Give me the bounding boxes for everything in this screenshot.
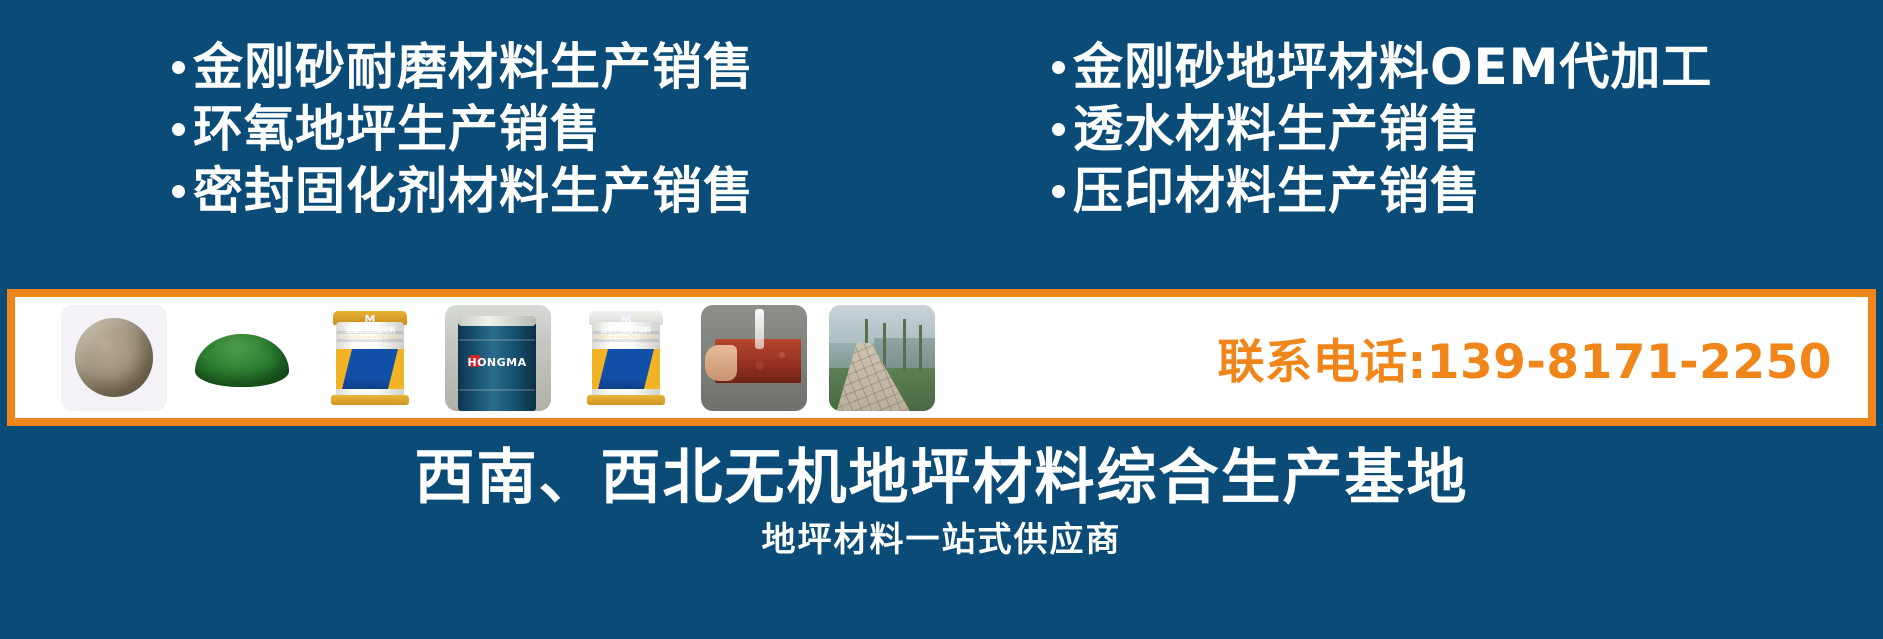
product-thumbnail-list: M 混凝土密封固化剂 Concrete seal curing agent HO… (15, 297, 935, 418)
water-stream-shape (755, 309, 764, 349)
bullet-dot-icon (1052, 185, 1065, 198)
bullet-dot-icon (172, 185, 185, 198)
drum-hoop (459, 339, 535, 341)
pail-en-label: Concrete seal curing agent (335, 336, 405, 340)
service-label: 密封固化剂材料生产销售 (193, 166, 754, 216)
service-label: 环氧地坪生产销售 (193, 104, 601, 154)
product-thumb-stamped-path (829, 305, 935, 411)
drum-hoop (459, 389, 535, 391)
product-thumb-concrete-sealer-pail: M 混凝土密封固化剂 Concrete seal curing agent (317, 305, 423, 411)
pail-base (587, 395, 665, 405)
product-thumb-epoxy-coating-pail: M 改性环氧地坪涂料 Modified epoxy floor coating (573, 305, 679, 411)
bullet-dot-icon (1052, 123, 1065, 136)
plastic-pail-shape: M 混凝土密封固化剂 Concrete seal curing agent (331, 311, 409, 405)
headline-text: 西南、西北无机地坪材料综合生产基地 (0, 447, 1883, 510)
drum-brand-label: HONGMA (445, 357, 549, 368)
pail-cn-label: 改性环氧地坪涂料 (590, 327, 662, 333)
subheadline-text: 地坪材料一站式供应商 (0, 523, 1883, 557)
service-item: 金刚砂地坪材料OEM代加工 (1052, 36, 1712, 98)
services-right-column: 金刚砂地坪材料OEM代加工 透水材料生产销售 压印材料生产销售 (1052, 36, 1712, 222)
pail-base (331, 395, 409, 405)
service-item: 透水材料生产销售 (1052, 98, 1712, 160)
service-item: 金刚砂耐磨材料生产销售 (172, 36, 754, 98)
pail-en-label: Modified epoxy floor coating (591, 336, 661, 340)
bullet-dot-icon (1052, 61, 1065, 74)
product-strip: M 混凝土密封固化剂 Concrete seal curing agent HO… (7, 289, 1876, 426)
services-section: 金刚砂耐磨材料生产销售 环氧地坪生产销售 密封固化剂材料生产销售 金刚砂地坪材料… (0, 0, 1883, 286)
footer-section: 西南、西北无机地坪材料综合生产基地 地坪材料一站式供应商 (0, 432, 1883, 639)
product-thumb-emery-powder (61, 305, 167, 411)
contact-phone[interactable]: 联系电话:139-8171-2250 (1217, 323, 1868, 392)
service-label: 金刚砂耐磨材料生产销售 (193, 42, 754, 92)
pail-label (336, 349, 404, 389)
service-item: 环氧地坪生产销售 (172, 98, 754, 160)
service-item: 密封固化剂材料生产销售 (172, 160, 754, 222)
product-thumb-green-powder (189, 305, 295, 411)
service-label: 金刚砂地坪材料OEM代加工 (1073, 42, 1712, 92)
pail-label (592, 349, 660, 389)
service-label: 压印材料生产销售 (1073, 166, 1481, 216)
services-left-column: 金刚砂耐磨材料生产销售 环氧地坪生产销售 密封固化剂材料生产销售 (172, 36, 754, 222)
plastic-pail-shape: M 改性环氧地坪涂料 Modified epoxy floor coating (587, 311, 665, 405)
product-thumb-hongma-drum: HONGMA (445, 305, 551, 411)
brand-m-logo: M (365, 314, 376, 325)
brand-m-logo: M (621, 314, 632, 325)
powder-heap-shape (195, 334, 288, 387)
hand-shape (705, 345, 737, 381)
product-thumb-permeable-concrete (701, 305, 807, 411)
service-label: 透水材料生产销售 (1073, 104, 1481, 154)
promo-banner: 金刚砂耐磨材料生产销售 环氧地坪生产销售 密封固化剂材料生产销售 金刚砂地坪材料… (0, 0, 1883, 639)
steel-drum-rim (458, 316, 536, 326)
powder-heap-shape (75, 318, 153, 396)
pail-cn-label: 混凝土密封固化剂 (334, 327, 406, 333)
bullet-dot-icon (172, 123, 185, 136)
service-item: 压印材料生产销售 (1052, 160, 1712, 222)
bullet-dot-icon (172, 61, 185, 74)
